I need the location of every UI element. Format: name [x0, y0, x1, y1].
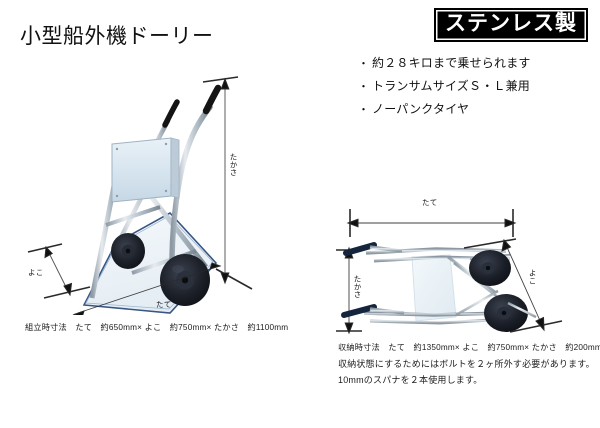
- dimension-label-depth: たて: [422, 197, 438, 208]
- list-item: ・ トランサムサイズＳ・Ｌ兼用: [358, 75, 596, 98]
- wheel-lower: [484, 294, 528, 332]
- status-badge-stainless: ステンレス製: [434, 8, 588, 42]
- dimension-label-depth: たて: [156, 299, 172, 310]
- wheel-upper: [469, 250, 511, 286]
- frame-tube-grip-link-upper: [370, 247, 402, 251]
- folded-dolly-illustration: [330, 195, 595, 340]
- caption-folded-dimensions: 収納時寸法 たて 約1350mm× よこ 約750mm× たかさ 約200mm …: [338, 340, 600, 388]
- dimension-depth: [348, 209, 515, 237]
- back-panel: [412, 255, 456, 321]
- bullet-icon: ・: [358, 99, 372, 121]
- product-spec-page: 小型船外機ドーリー ステンレス製 ・ 約２８キロまで乗せられます ・ トランサム…: [0, 0, 600, 428]
- dimension-label-width: よこ: [527, 269, 538, 285]
- dimension-label-height: たかさ: [228, 153, 239, 176]
- figure-folded-dolly: たて よこ たかさ: [330, 195, 595, 340]
- bullet-icon: ・: [358, 76, 372, 98]
- dimension-label-height: たかさ: [352, 275, 363, 298]
- back-panel: [112, 138, 179, 202]
- folded-frame: [344, 245, 536, 332]
- frame-tube-lower: [364, 313, 502, 315]
- figure-assembled-dolly: たかさ よこ たて: [20, 55, 280, 315]
- page-title: 小型船外機ドーリー: [20, 20, 214, 50]
- feature-label: トランサムサイズＳ・Ｌ兼用: [372, 75, 530, 97]
- feature-list: ・ 約２８キロまで乗せられます ・ トランサムサイズＳ・Ｌ兼用 ・ ノーパンクタ…: [358, 52, 596, 121]
- feature-label: ノーパンクタイヤ: [372, 98, 469, 120]
- list-item: ・ 約２８キロまで乗せられます: [358, 52, 596, 75]
- bullet-icon: ・: [358, 53, 372, 75]
- handle-grip-left: [165, 102, 177, 125]
- caption-assembled-dimensions: 組立時寸法 たて 約650mm× よこ 約750mm× たかさ 約1100mm: [25, 320, 288, 336]
- assembled-dolly-illustration: [20, 55, 280, 315]
- wheel-rear: [111, 233, 145, 269]
- caption-line: 収納状態にするためにはボルトを２ヶ所外す必要があります。: [338, 356, 600, 372]
- caption-line: 10mmのスパナを２本使用します。: [338, 372, 600, 388]
- feature-label: 約２８キロまで乗せられます: [372, 52, 531, 74]
- caption-line: 収納時寸法 たて 約1350mm× よこ 約750mm× たかさ 約200mm: [338, 340, 600, 356]
- list-item: ・ ノーパンクタイヤ: [358, 98, 596, 121]
- dimension-label-width: よこ: [28, 267, 44, 278]
